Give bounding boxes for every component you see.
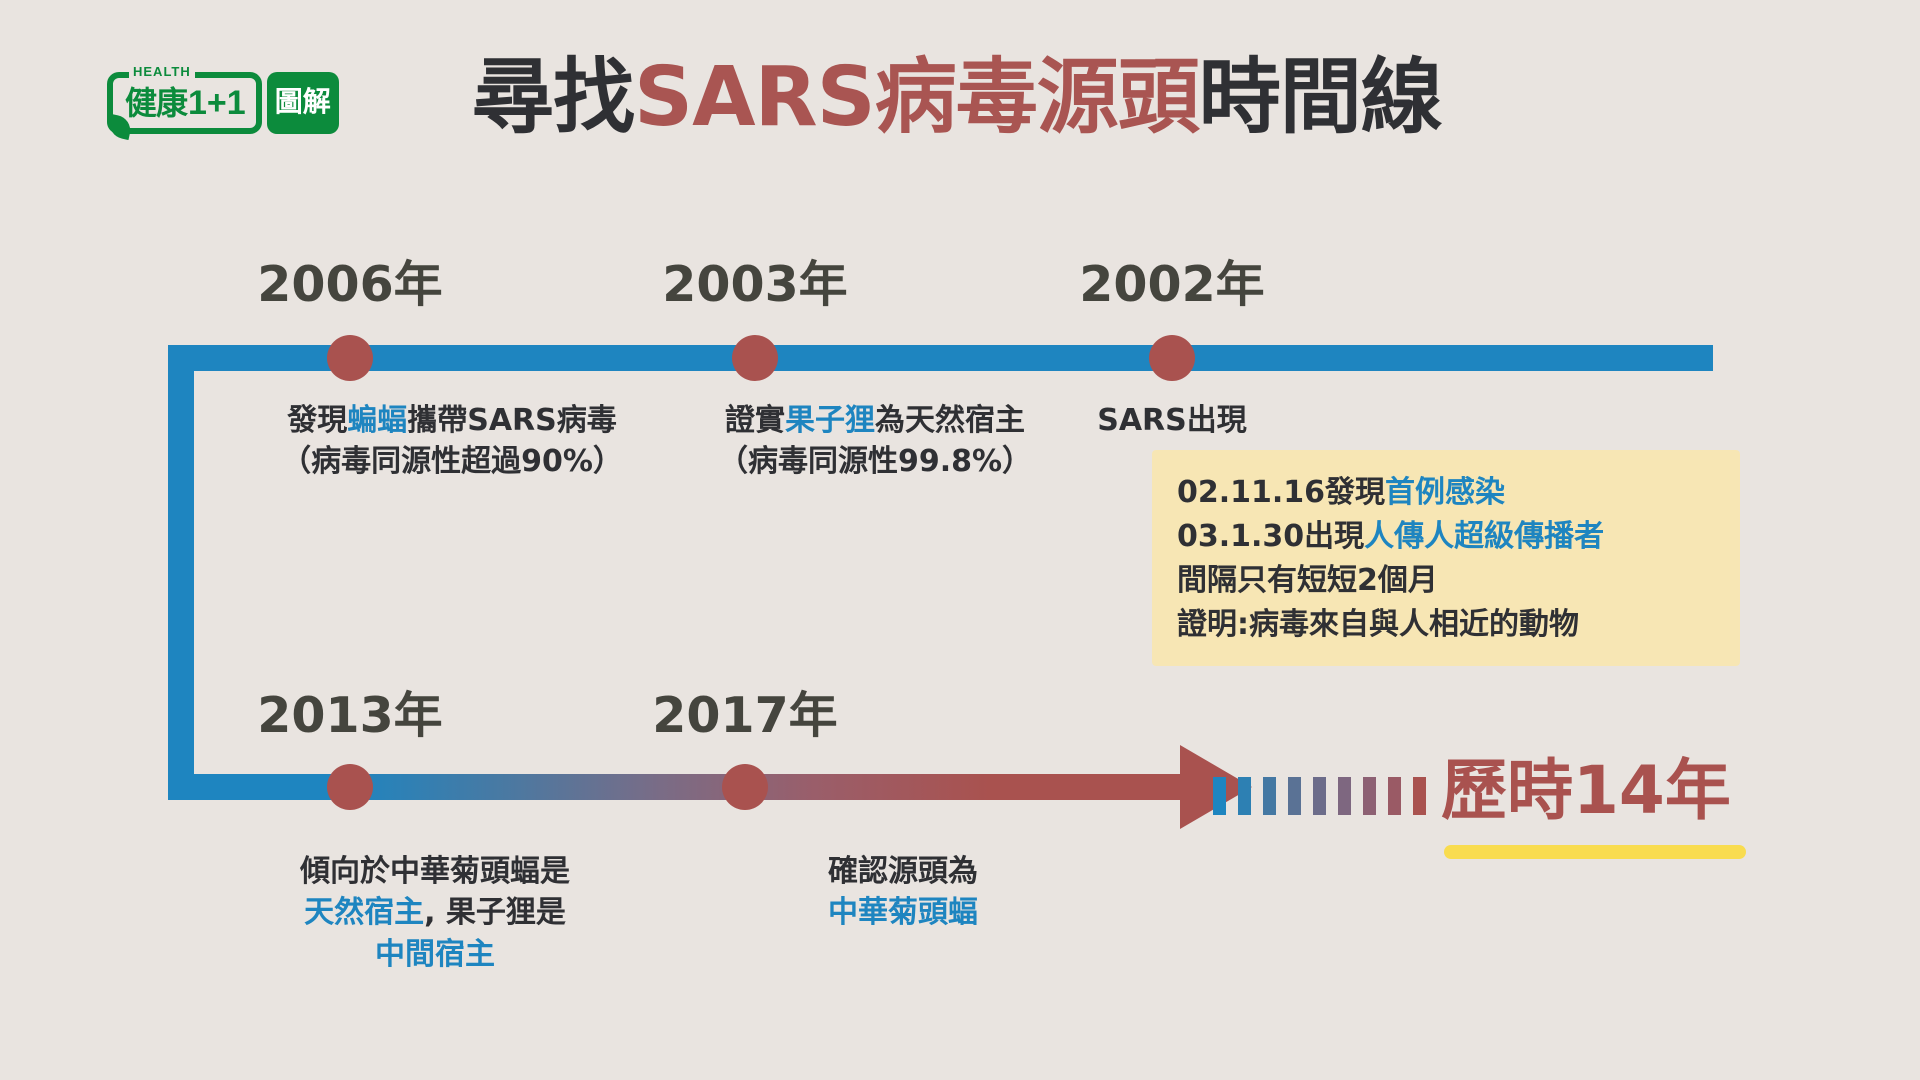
- timeline-marker-2002[interactable]: [1149, 335, 1195, 381]
- event-desc-2002: SARS出現: [1097, 400, 1247, 441]
- timeline-bar-connector: [168, 345, 194, 800]
- event-desc-2013-line3: 中間宿主: [300, 934, 570, 975]
- text-post: 攜帶SARS病毒: [407, 403, 617, 438]
- conclusion-underline: [1444, 845, 1746, 859]
- year-label-2003: 2003年: [662, 245, 847, 316]
- timeline-bar-bottom: [168, 774, 1194, 800]
- timeline-dash-2: [1238, 777, 1251, 815]
- year-label-2017: 2017年: [652, 676, 837, 747]
- timeline-marker-2006[interactable]: [327, 335, 373, 381]
- timeline-marker-2003[interactable]: [732, 335, 778, 381]
- logo-frame: HEALTH 健康 1+1: [107, 72, 262, 134]
- text-pre: 發現: [287, 403, 347, 438]
- text-post: 為天然宿主: [875, 403, 1025, 438]
- year-label-2013: 2013年: [257, 676, 442, 747]
- title-segment-2: SARS病毒源頭: [634, 50, 1199, 145]
- text-post: , 果子狸是: [424, 895, 566, 930]
- text-pre: 03.1.30出現: [1177, 519, 1364, 554]
- title-segment-3: 時間線: [1199, 50, 1442, 145]
- text-highlight: 天然宿主: [304, 895, 424, 930]
- timeline-dash-1: [1213, 777, 1226, 815]
- logo-tag-label: 圖解: [267, 72, 339, 134]
- text-highlight: 蝙蝠: [347, 403, 407, 438]
- page-title: 尋找SARS病毒源頭時間線: [472, 54, 1442, 143]
- timeline-bar-top: [168, 345, 1713, 371]
- callout-line-2: 03.1.30出現人傳人超級傳播者: [1177, 515, 1740, 559]
- event-desc-2002-line1: SARS出現: [1097, 400, 1247, 441]
- event-desc-2013-line1: 傾向於中華菊頭蝠是: [300, 851, 570, 892]
- event-desc-2006: 發現蝙蝠攜帶SARS病毒 （病毒同源性超過90%）: [281, 400, 623, 483]
- timeline-dash-8: [1388, 777, 1401, 815]
- event-desc-2003: 證實果子狸為天然宿主 （病毒同源性99.8%）: [718, 400, 1032, 483]
- timeline-dash-3: [1263, 777, 1276, 815]
- event-desc-2003-line1: 證實果子狸為天然宿主: [718, 400, 1032, 441]
- event-desc-2017: 確認源頭為 中華菊頭蝠: [828, 851, 978, 934]
- event-desc-2006-line2: （病毒同源性超過90%）: [281, 441, 623, 482]
- text-highlight: 人傳人超級傳播者: [1364, 519, 1604, 554]
- title-segment-1: 尋找: [472, 50, 634, 145]
- timeline-dash-6: [1338, 777, 1351, 815]
- brand-logo[interactable]: HEALTH 健康 1+1 圖解: [107, 72, 339, 134]
- event-desc-2017-line2: 中華菊頭蝠: [828, 892, 978, 933]
- logo-health-superscript: HEALTH: [129, 65, 195, 78]
- year-label-2006: 2006年: [257, 245, 442, 316]
- text-highlight: 首例感染: [1385, 475, 1505, 510]
- callout-line-3: 間隔只有短短2個月: [1177, 559, 1740, 603]
- event-desc-2017-line1: 確認源頭為: [828, 851, 978, 892]
- conclusion-label: 歷時14年: [1441, 758, 1731, 824]
- callout-line-1: 02.11.16發現首例感染: [1177, 471, 1740, 515]
- timeline-dash-sequence: [1213, 777, 1426, 815]
- event-desc-2006-line1: 發現蝙蝠攜帶SARS病毒: [281, 400, 623, 441]
- text-pre: 02.11.16發現: [1177, 475, 1385, 510]
- timeline-dash-7: [1363, 777, 1376, 815]
- timeline-marker-2013[interactable]: [327, 764, 373, 810]
- year-label-2002: 2002年: [1079, 245, 1264, 316]
- infographic-canvas: HEALTH 健康 1+1 圖解 尋找SARS病毒源頭時間線 2006年 200…: [0, 0, 1920, 1080]
- logo-plus-text: 1+1: [188, 86, 246, 120]
- logo-name-text: 健康: [125, 87, 187, 119]
- callout-box: 02.11.16發現首例感染 03.1.30出現人傳人超級傳播者 間隔只有短短2…: [1152, 450, 1740, 666]
- event-desc-2013-line2: 天然宿主, 果子狸是: [300, 892, 570, 933]
- text-pre: 證實: [725, 403, 785, 438]
- event-desc-2003-line2: （病毒同源性99.8%）: [718, 441, 1032, 482]
- timeline-marker-2017[interactable]: [722, 764, 768, 810]
- timeline-dash-5: [1313, 777, 1326, 815]
- timeline-dash-9: [1413, 777, 1426, 815]
- text-highlight: 果子狸: [785, 403, 875, 438]
- event-desc-2013: 傾向於中華菊頭蝠是 天然宿主, 果子狸是 中間宿主: [300, 851, 570, 975]
- callout-line-4: 證明:病毒來自與人相近的動物: [1177, 603, 1740, 647]
- timeline-dash-4: [1288, 777, 1301, 815]
